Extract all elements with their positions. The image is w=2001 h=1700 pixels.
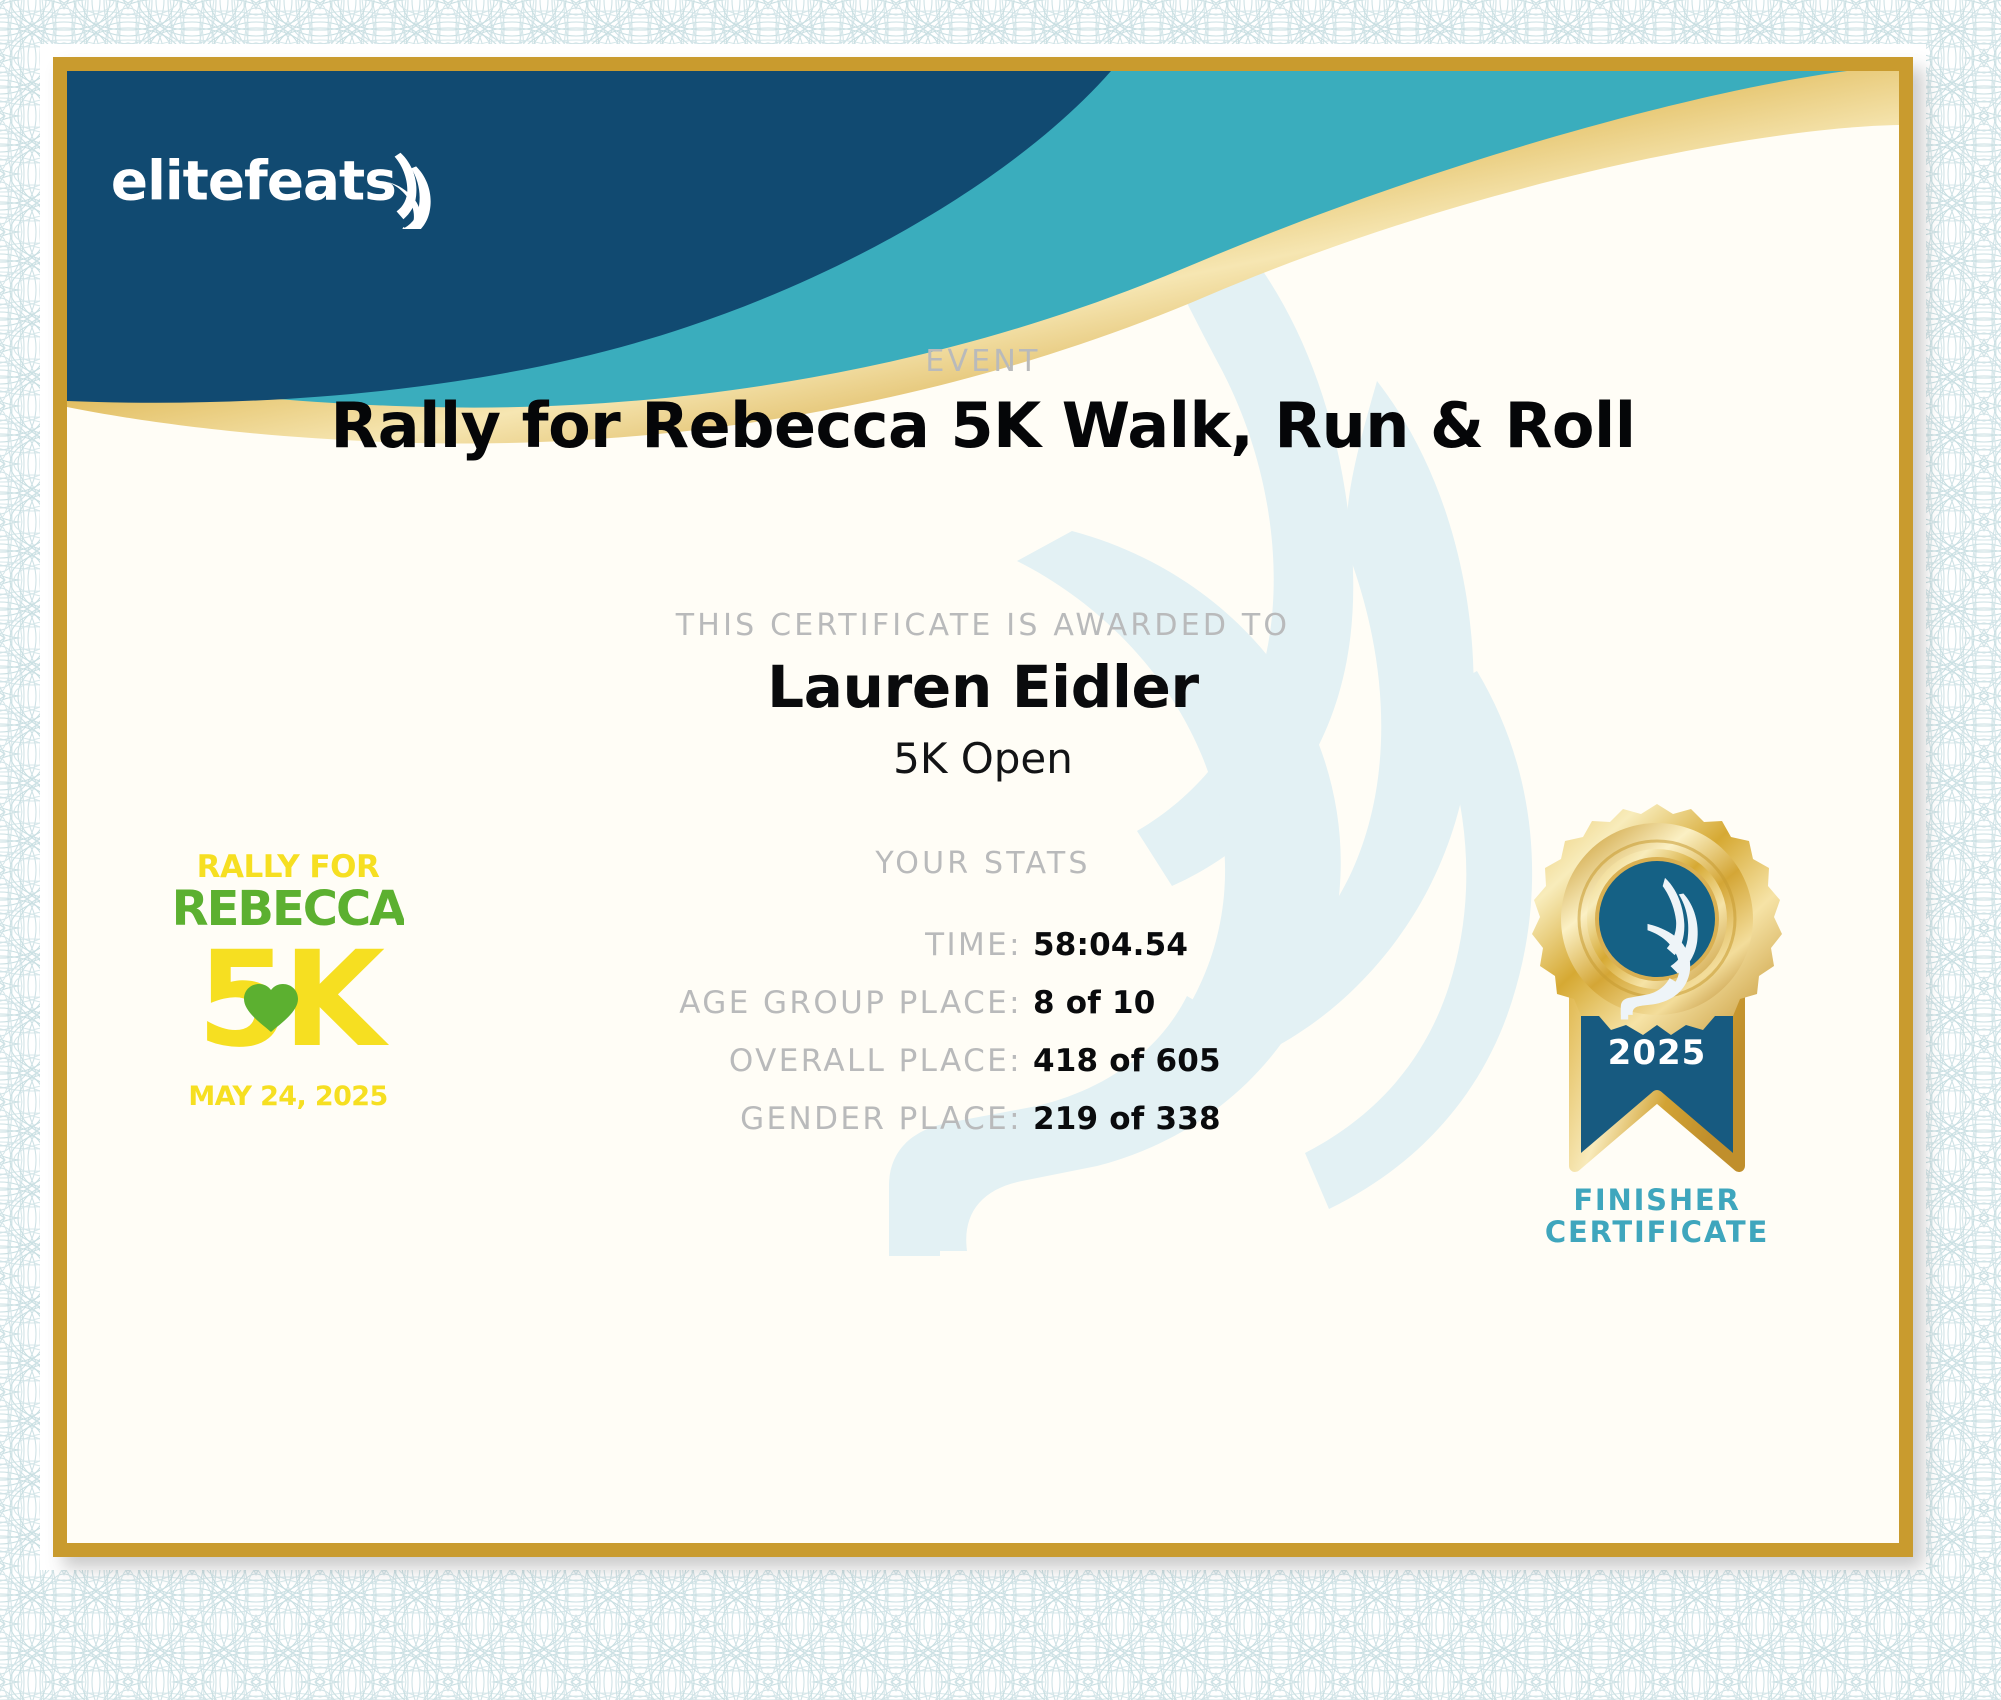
certificate-page: elitefeats EVENT Rally for Rebecca 5K Wa… bbox=[0, 0, 2001, 1700]
stat-value: 219 of 338 bbox=[1033, 1101, 1223, 1137]
rally-logo-line4: MAY 24, 2025 bbox=[188, 1081, 387, 1112]
event-label: EVENT bbox=[67, 344, 1899, 379]
stat-label: TIME: bbox=[925, 927, 1022, 963]
stat-row: AGE GROUP PLACE: 8 of 10 bbox=[303, 985, 1223, 1043]
stat-label: AGE GROUP PLACE: bbox=[679, 985, 1022, 1021]
stat-row: GENDER PLACE: 219 of 338 bbox=[303, 1101, 1223, 1159]
stat-value: 8 of 10 bbox=[1033, 985, 1223, 1021]
awarded-to-label: THIS CERTIFICATE IS AWARDED TO bbox=[67, 608, 1899, 643]
finisher-caption-line2: CERTIFICATE bbox=[1467, 1216, 1847, 1248]
medal-year: 2025 bbox=[1608, 1033, 1707, 1073]
certificate-frame: elitefeats EVENT Rally for Rebecca 5K Wa… bbox=[53, 57, 1913, 1557]
stat-value: 418 of 605 bbox=[1033, 1043, 1223, 1079]
certificate-body: elitefeats EVENT Rally for Rebecca 5K Wa… bbox=[67, 71, 1899, 1543]
finisher-caption-line1: FINISHER bbox=[1467, 1184, 1847, 1216]
stat-row: TIME: 58:04.54 bbox=[303, 927, 1223, 985]
event-title: Rally for Rebecca 5K Walk, Run & Roll bbox=[67, 389, 1899, 462]
stat-label: GENDER PLACE: bbox=[740, 1101, 1022, 1137]
finisher-certificate-caption: FINISHER CERTIFICATE bbox=[1467, 1184, 1847, 1249]
recipient-name: Lauren Eidler bbox=[67, 653, 1899, 721]
rally-for-rebecca-logo: RALLY FOR REBECCA 5K MAY 24, 2025 bbox=[172, 849, 404, 1117]
stats-table: TIME: 58:04.54 AGE GROUP PLACE: 8 of 10 … bbox=[303, 927, 1223, 1159]
stat-label: OVERALL PLACE: bbox=[729, 1043, 1022, 1079]
stat-row: OVERALL PLACE: 418 of 605 bbox=[303, 1043, 1223, 1101]
recipient-division: 5K Open bbox=[67, 734, 1899, 783]
medal-art: 2025 bbox=[1507, 796, 1807, 1196]
finisher-medal: 2025 bbox=[1467, 796, 1847, 1296]
certificate-content: EVENT Rally for Rebecca 5K Walk, Run & R… bbox=[67, 71, 1899, 1543]
stat-value: 58:04.54 bbox=[1033, 927, 1223, 963]
rally-logo-line1: RALLY FOR bbox=[197, 849, 380, 885]
